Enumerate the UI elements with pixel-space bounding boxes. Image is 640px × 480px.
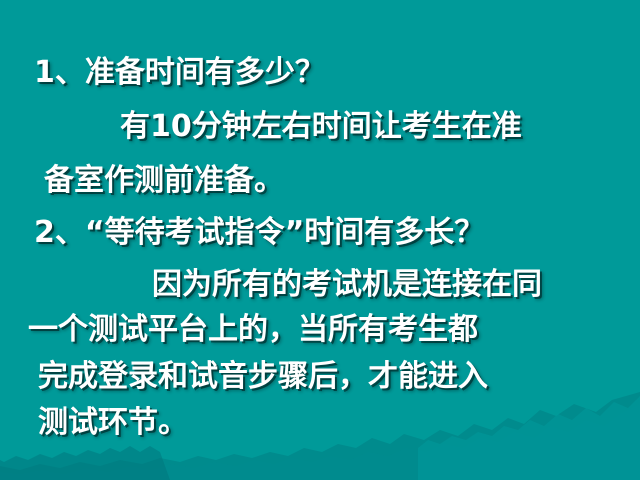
a2-line4: 测试环节。: [38, 408, 188, 438]
a1-line1: 有10分钟左右时间让考生在准: [120, 112, 522, 142]
q2-heading: 2、“等待考试指令”时间有多长？: [34, 218, 484, 248]
a1-line2: 备室作测前准备。: [44, 166, 284, 196]
a2-line1: 因为所有的考试机是连接在同: [152, 270, 542, 300]
a2-line2: 一个测试平台上的，当所有考生都: [28, 315, 478, 345]
q1-heading: 1、准备时间有多少？: [34, 58, 325, 88]
a2-line3: 完成登录和试音步骤后，才能进入: [38, 362, 488, 392]
presentation-slide: 1、准备时间有多少？ 有10分钟左右时间让考生在准 备室作测前准备。 2、“等待…: [0, 0, 640, 480]
slide-body-text: 1、准备时间有多少？ 有10分钟左右时间让考生在准 备室作测前准备。 2、“等待…: [0, 0, 640, 480]
